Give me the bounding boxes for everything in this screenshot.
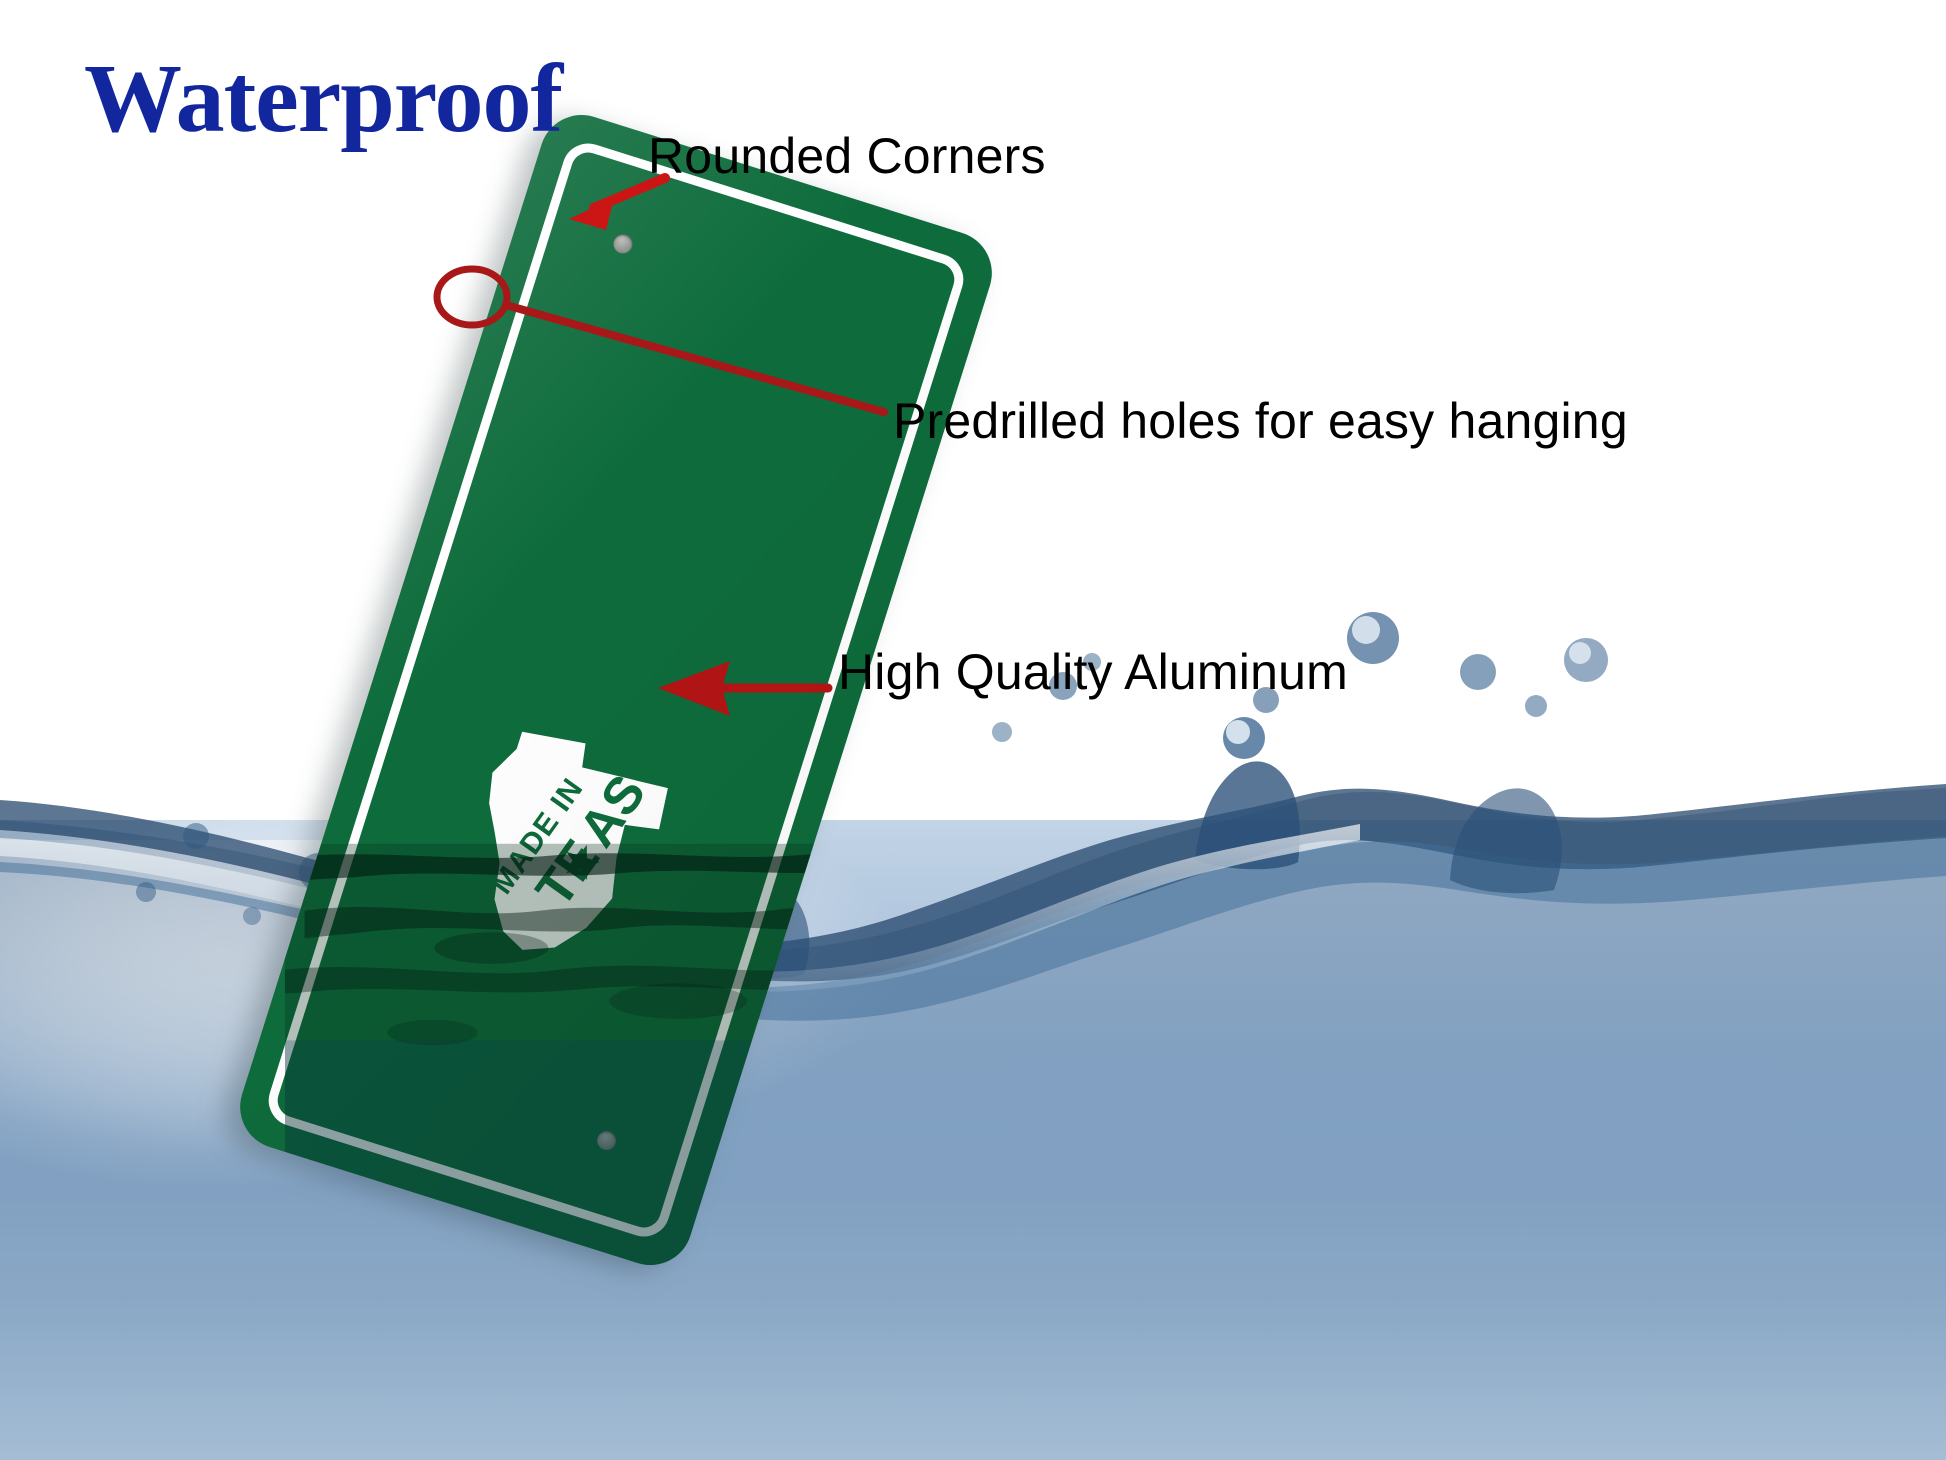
logo-line-made-in: MADE IN: [485, 772, 589, 900]
callout-label-predrilled-holes: Predrilled holes for easy hanging: [893, 392, 1628, 450]
logo-star-icon: ★: [547, 830, 613, 894]
callout-label-rounded-corners: Rounded Corners: [648, 127, 1046, 185]
water-background: [0, 0, 1946, 1460]
page-title: Waterproof: [84, 50, 562, 148]
annotation-overlay: [0, 0, 1946, 1460]
infographic-canvas: MADE IN TE ★ AS: [0, 0, 1946, 1460]
made-in-texas-logo: MADE IN TE ★ AS: [448, 732, 678, 972]
logo-line-texas: TE ★ AS: [525, 765, 657, 918]
predrilled-hole-bottom: [595, 1129, 619, 1153]
texas-state-shape-icon: MADE IN TE ★ AS: [448, 732, 678, 972]
predrilled-hole-top: [611, 232, 635, 256]
callout-label-high-quality-aluminum: High Quality Aluminum: [838, 643, 1348, 701]
svg-text:TE: TE: [525, 830, 611, 918]
water-splash-illustration: [0, 0, 1946, 1460]
svg-text:AS: AS: [568, 765, 657, 858]
sign-underwater-overlay: [285, 804, 875, 1275]
